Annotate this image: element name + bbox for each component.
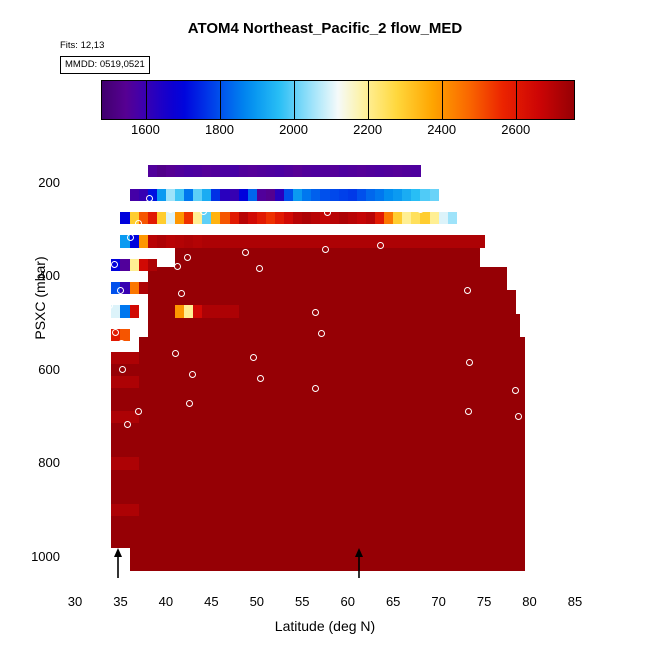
colorbar-tick-label: 2200 — [353, 122, 382, 137]
data-point — [111, 261, 118, 268]
x-tick-label: 85 — [568, 594, 582, 609]
data-point — [515, 413, 522, 420]
y-tick-label: 600 — [20, 362, 60, 377]
chart-root: ATOM4 Northeast_Pacific_2 flow_MED Fits:… — [0, 0, 650, 650]
data-point — [117, 287, 124, 294]
colorbar-tick-label: 2400 — [427, 122, 456, 137]
heatmap-cell-block — [111, 430, 525, 454]
x-tick-label: 55 — [295, 594, 309, 609]
fits-annotation: Fits: 12,13 — [60, 40, 104, 51]
data-point — [200, 208, 207, 215]
data-point — [146, 195, 153, 202]
colorbar-tick — [146, 81, 147, 119]
x-axis-label: Latitude (deg N) — [75, 618, 575, 634]
colorbar-tick-label: 2600 — [501, 122, 530, 137]
y-tick-label: 800 — [20, 455, 60, 470]
x-tick-label: 30 — [68, 594, 82, 609]
colorbar-tick — [516, 81, 517, 119]
heatmap-cell-block — [139, 337, 525, 361]
data-point — [303, 226, 310, 233]
x-tick-label: 75 — [477, 594, 491, 609]
heatmap-cell-block — [111, 454, 525, 478]
colorbar-tick — [294, 81, 295, 119]
heatmap-cell — [411, 165, 421, 177]
data-point — [256, 265, 263, 272]
colorbar: 160018002000220024002600 — [101, 80, 575, 120]
heatmap-cell-block — [111, 477, 525, 501]
page-title: ATOM4 Northeast_Pacific_2 flow_MED — [0, 20, 650, 37]
data-point — [257, 203, 264, 210]
mmdd-annotation: MMDD: 0519,0521 — [60, 56, 150, 74]
plot-area — [75, 150, 575, 580]
colorbar-tick — [220, 81, 221, 119]
x-tick-label: 60 — [340, 594, 354, 609]
data-point — [119, 366, 126, 373]
data-point — [464, 287, 471, 294]
data-point — [106, 302, 113, 309]
heatmap-cell — [230, 305, 240, 317]
heatmap-cell — [130, 352, 140, 364]
data-point — [135, 220, 142, 227]
data-point — [178, 290, 185, 297]
heatmap-cell — [130, 457, 140, 469]
data-point — [494, 247, 501, 254]
heatmap-cell — [130, 305, 140, 317]
colorbar-tick — [368, 81, 369, 119]
heatmap-cell-block — [111, 501, 525, 525]
colorbar-tick-labels: 160018002000220024002600 — [101, 122, 575, 138]
data-point — [186, 400, 193, 407]
heatmap-cell — [130, 504, 140, 516]
heatmap-cell-block — [130, 547, 525, 571]
colorbar-tick-label: 2000 — [279, 122, 308, 137]
data-point — [318, 330, 325, 337]
heatmap-cell — [475, 235, 485, 247]
heatmap-cell-block — [111, 524, 525, 548]
heatmap-cell-block — [148, 267, 507, 291]
heatmap-cell — [120, 329, 130, 341]
data-point — [324, 209, 331, 216]
data-point — [281, 204, 288, 211]
data-point — [242, 249, 249, 256]
y-tick-label: 400 — [20, 268, 60, 283]
y-tick-label: 200 — [20, 175, 60, 190]
arrow-marker-left — [113, 548, 123, 583]
heatmap-cell — [430, 189, 440, 201]
x-tick-label: 35 — [113, 594, 127, 609]
heatmap-cell — [130, 376, 140, 388]
data-point — [118, 340, 125, 347]
x-tick-label: 65 — [386, 594, 400, 609]
heatmap-cell — [448, 212, 458, 224]
data-point — [172, 350, 179, 357]
y-tick-label: 1000 — [20, 549, 60, 564]
data-point — [112, 329, 119, 336]
colorbar-tick — [442, 81, 443, 119]
data-point — [129, 340, 136, 347]
x-tick-label: 80 — [522, 594, 536, 609]
x-tick-label: 70 — [431, 594, 445, 609]
x-tick-label: 45 — [204, 594, 218, 609]
colorbar-tick-label: 1600 — [131, 122, 160, 137]
data-point — [189, 371, 196, 378]
colorbar-tick-label: 1800 — [205, 122, 234, 137]
arrow-marker-right — [354, 548, 364, 583]
x-tick-label: 40 — [159, 594, 173, 609]
data-point — [312, 309, 319, 316]
data-point — [257, 375, 264, 382]
heatmap-cell — [139, 282, 149, 294]
heatmap-cell — [148, 259, 158, 271]
heatmap-cells — [75, 150, 575, 580]
heatmap-cell-block — [111, 360, 525, 384]
x-tick-label: 50 — [250, 594, 264, 609]
heatmap-cell-block — [111, 407, 525, 431]
colorbar-gradient — [101, 80, 575, 120]
